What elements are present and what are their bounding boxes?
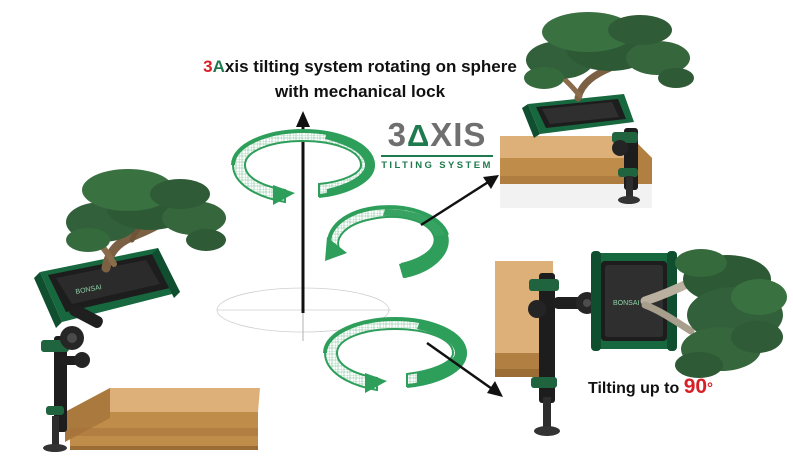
diagram-canvas: BONSAI 3Axis ti: [0, 0, 793, 460]
top-right-photo: [500, 8, 790, 208]
headline: 3Axis tilting system rotating on sphere …: [170, 55, 550, 104]
headline-number: 3: [203, 57, 212, 76]
center-diagram: [215, 105, 515, 415]
tilt-caption-text: Tilting up to: [588, 380, 684, 397]
svg-text:BONSAI: BONSAI: [613, 300, 640, 307]
rotation-ring-middle: [325, 207, 448, 278]
top-right-photo-art: [500, 8, 790, 208]
tilt-caption-value: 90: [684, 375, 707, 398]
bottom-right-photo: BONSAI: [495, 245, 790, 450]
headline-rest: xis tilting system rotating on sphere: [225, 57, 517, 76]
degree-icon: °: [707, 380, 713, 397]
pointer-arrow-to-top-right-photo: [421, 175, 499, 225]
tilt-caption: Tilting up to 90°: [588, 375, 713, 399]
turntable-bottom-right: BONSAI: [591, 251, 677, 351]
bonsai-top-right: [524, 12, 694, 98]
headline-line2: with mechanical lock: [170, 80, 550, 105]
bottom-right-photo-art: BONSAI: [495, 245, 790, 450]
headline-a: A: [213, 57, 225, 76]
rotation-arrows-diagram: [215, 105, 515, 415]
